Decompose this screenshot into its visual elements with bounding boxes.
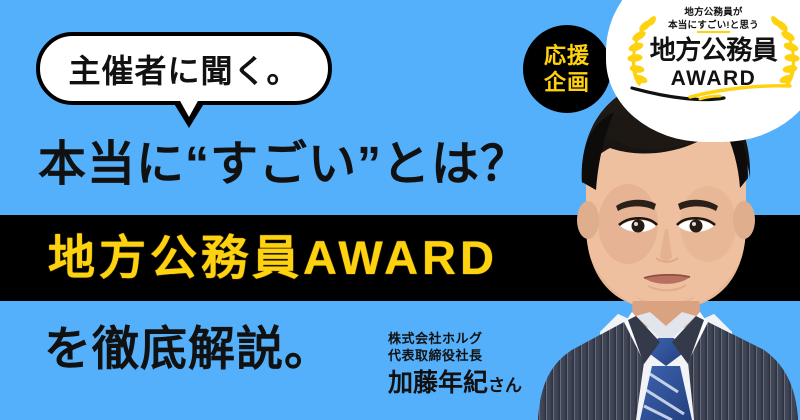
speech-bubble-tail-fill	[179, 99, 199, 117]
credit-name-main: 加藤年紀	[388, 369, 488, 397]
credit-name: 加藤年紀さん	[388, 368, 522, 401]
speaker-credit: 株式会社ホルグ 代表取締役社長 加藤年紀さん	[388, 330, 522, 401]
support-project-badge: 応援 企画	[523, 25, 611, 113]
speech-bubble-text: 主催者に聞く。	[40, 36, 328, 101]
credit-name-suffix: さん	[488, 376, 522, 395]
support-project-line1: 応援	[544, 42, 590, 69]
credit-title: 代表取締役社長	[388, 347, 522, 364]
speech-bubble: 主催者に聞く。	[36, 32, 332, 105]
headline-text: 本当に“すごい”とは？	[38, 135, 529, 195]
promo-banner: 地方公務員AWARD 主催者に聞く。 本当に“すごい”とは？	[0, 0, 800, 420]
award-tagline-pre: 本当に	[668, 20, 697, 31]
laurel-left-icon	[623, 12, 657, 88]
award-tagline-post: と思う	[730, 20, 759, 31]
laurel-right-icon	[770, 12, 800, 88]
award-underline-swoosh	[628, 82, 798, 102]
support-project-line2: 企画	[544, 69, 590, 96]
subheadline-text: を徹底解説。	[44, 318, 332, 380]
award-tagline-highlight: すごい!	[697, 20, 729, 33]
credit-company: 株式会社ホルグ	[388, 330, 522, 347]
award-band-text: 地方公務員AWARD	[48, 224, 498, 292]
